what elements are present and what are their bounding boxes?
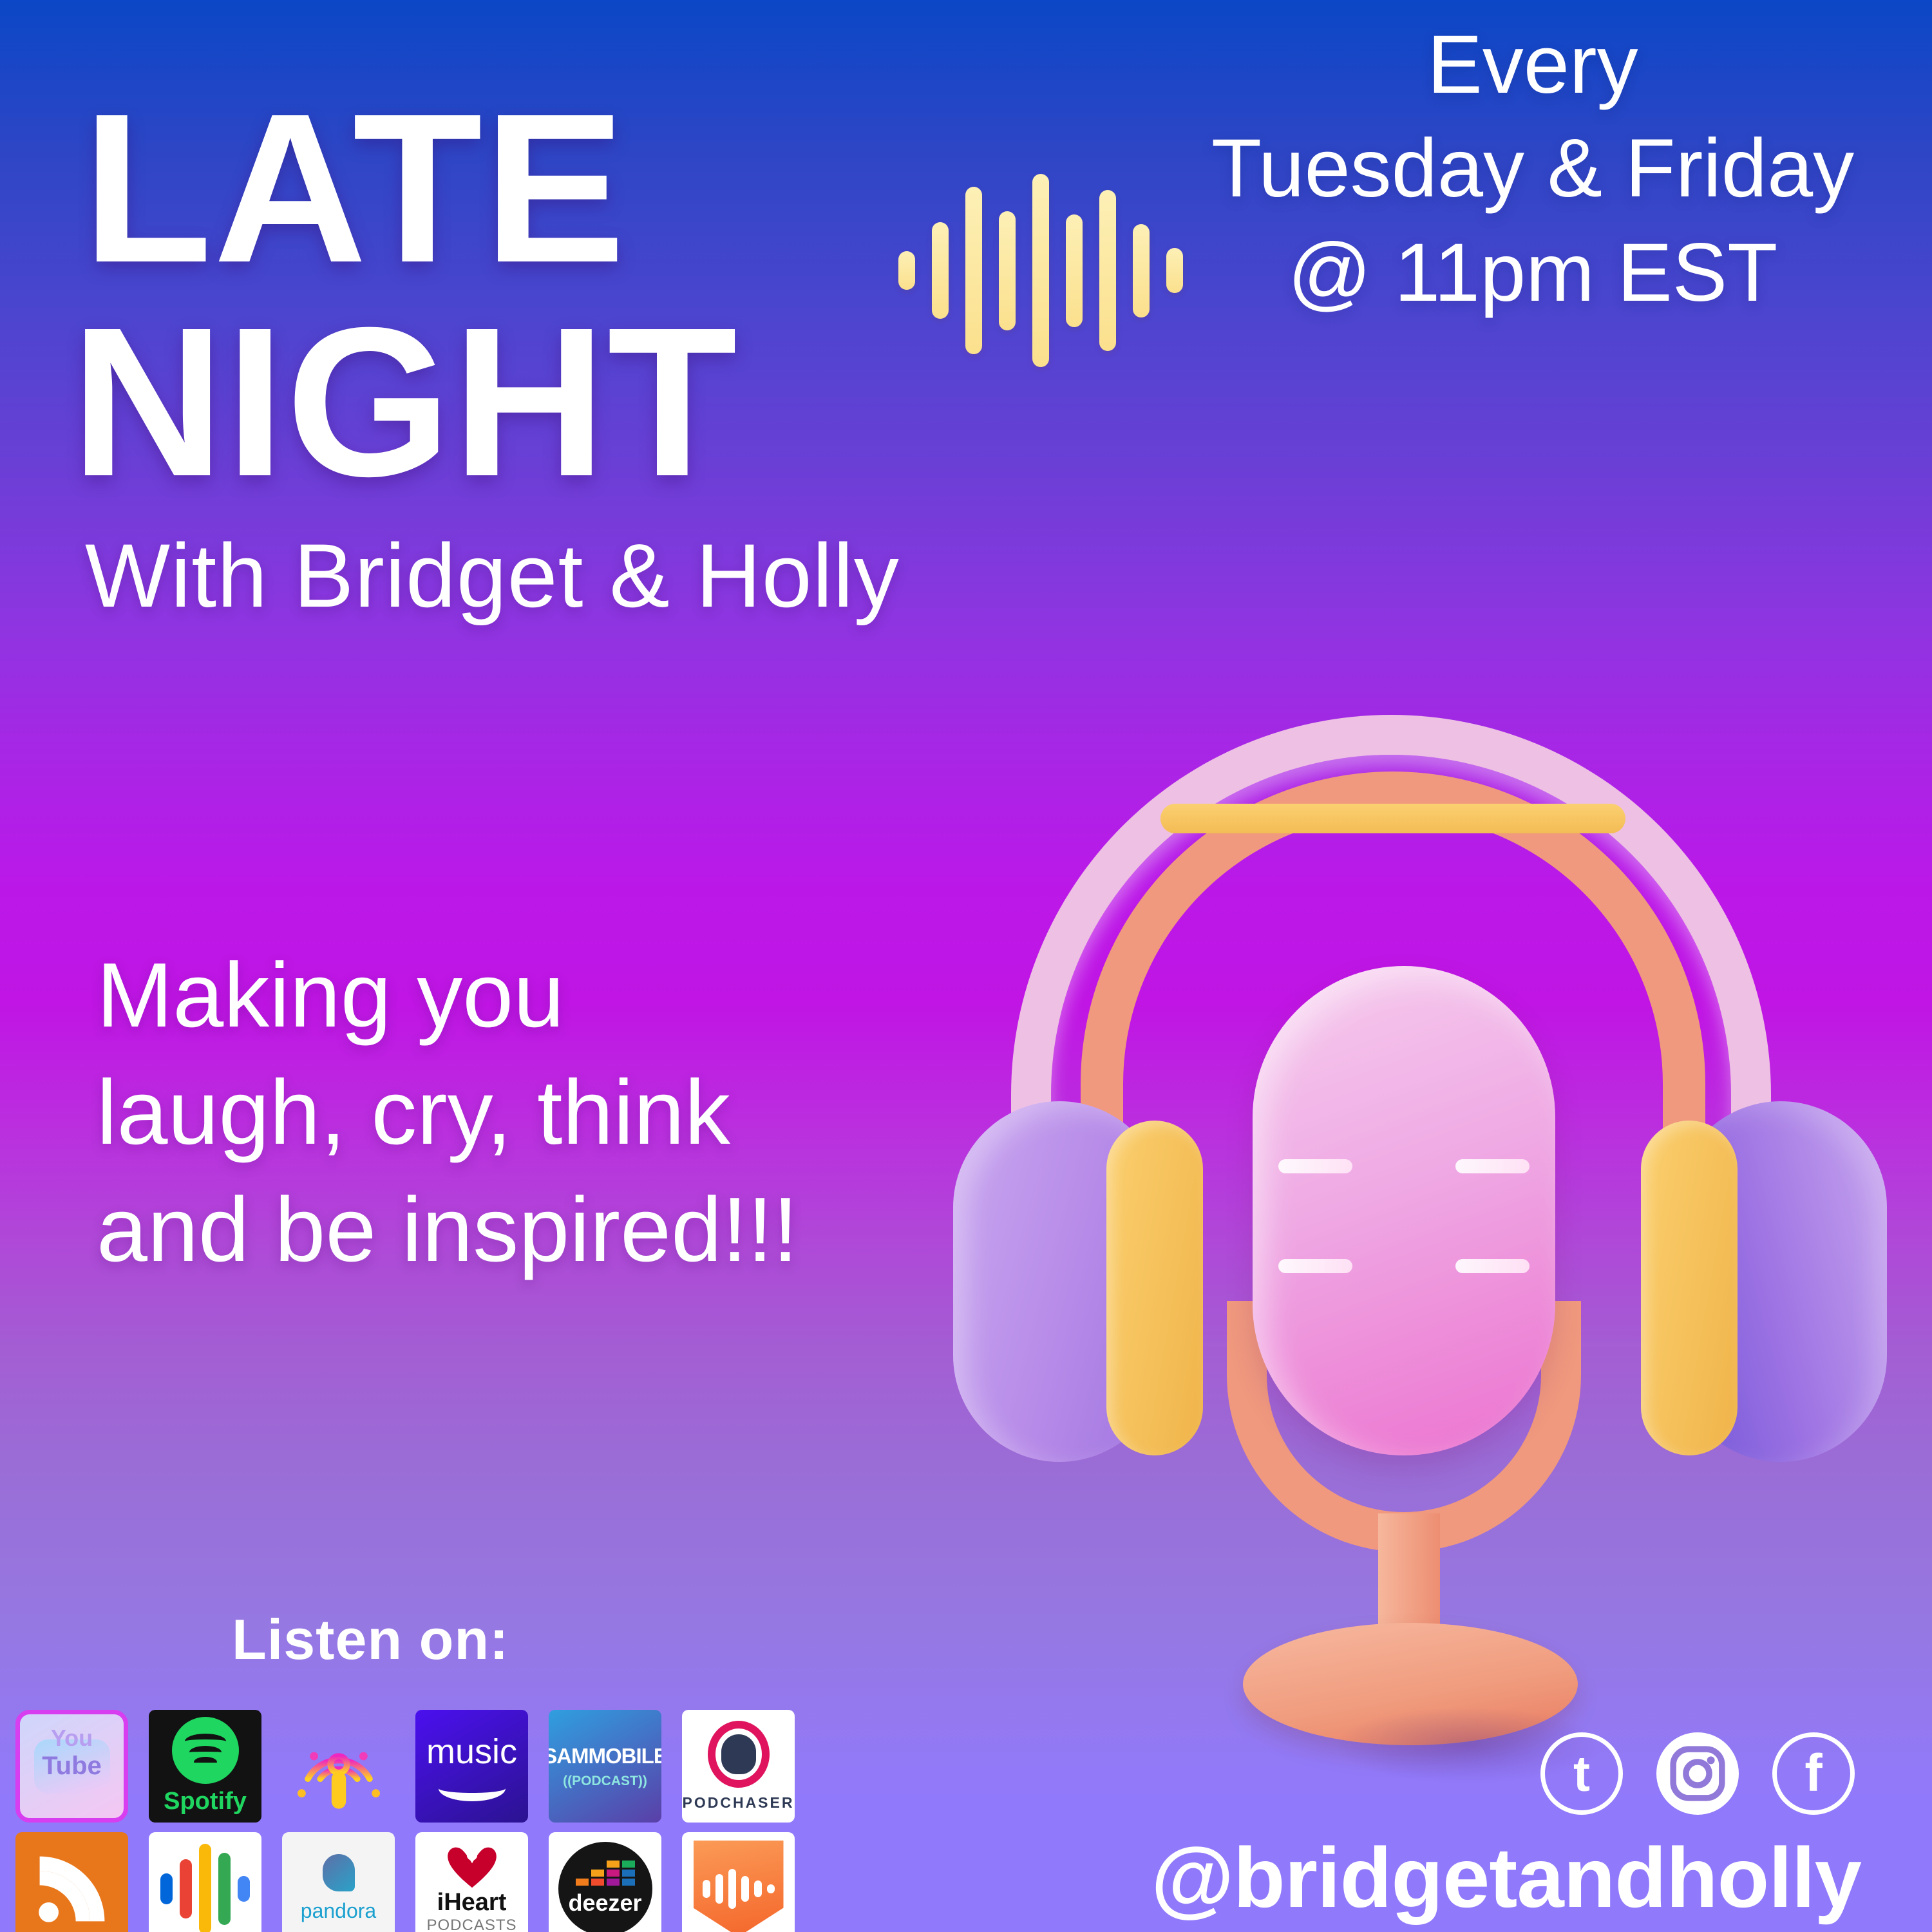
spotify-label: Spotify (164, 1788, 247, 1815)
earpad-right (1641, 1121, 1738, 1455)
gp-bar-2 (180, 1859, 192, 1918)
platform-badge-podcast-waves[interactable] (282, 1710, 395, 1823)
amazon-smile-icon (439, 1776, 506, 1801)
schedule-block: Every Tuesday & Friday @ 11pm EST (1211, 13, 1855, 325)
gp-bar-3 (199, 1844, 211, 1932)
platform-badge-deezer[interactable]: deezer (549, 1832, 661, 1932)
sparkle-icon-mid-small-top (792, 1417, 853, 1484)
gp-bar-1 (160, 1873, 173, 1904)
sammobile-sublabel: ((PODCAST)) (563, 1774, 647, 1789)
sammobile-label: SAMMOBILE (549, 1744, 661, 1768)
tagline-line-2: laugh, cry, think (97, 1054, 934, 1171)
platform-badge-row-2: pandora iHeart PODCASTS deezer (15, 1832, 795, 1932)
podchaser-label: PODCHASER (683, 1794, 795, 1812)
podcast-promo-poster: LATE NIGHT With Bridget & Holly Every Tu… (0, 0, 1932, 1932)
rss-feed-icon (27, 1844, 117, 1932)
sparkle-icon-mid-large (808, 1465, 937, 1610)
amazon-music-label: music (426, 1732, 517, 1772)
facebook-icon[interactable]: f (1772, 1732, 1855, 1815)
platform-badge-podchaser[interactable]: PODCHASER (682, 1710, 795, 1823)
podcast-waves-icon (287, 1715, 390, 1818)
social-icons-row: t f (1540, 1732, 1855, 1815)
tumblr-icon[interactable]: t (1540, 1732, 1623, 1815)
platform-badge-iheart[interactable]: iHeart PODCASTS (415, 1832, 528, 1932)
platform-badge-podcast-addict[interactable] (682, 1832, 795, 1932)
facebook-glyph: f (1804, 1747, 1822, 1800)
page-subtitle: With Bridget & Holly (85, 524, 972, 628)
iheart-label: iHeart (437, 1889, 507, 1917)
microphone-headphones-icon (934, 676, 1913, 1771)
youtube-top-text: You (20, 1725, 124, 1752)
title-block: LATE NIGHT With Bridget & Holly (71, 90, 972, 628)
deezer-icon: deezer (558, 1842, 652, 1932)
spotify-icon (172, 1717, 239, 1784)
instagram-icon[interactable] (1656, 1732, 1739, 1815)
youtube-bottom-text: Tube (42, 1752, 102, 1781)
pandora-label: pandora (301, 1899, 376, 1923)
platform-badge-rss[interactable] (15, 1832, 128, 1932)
platform-badge-youtube[interactable]: You Tube (15, 1710, 128, 1823)
gp-bar-5 (238, 1876, 250, 1902)
platform-badge-google-podcasts[interactable] (149, 1832, 261, 1932)
schedule-line-3: @ 11pm EST (1211, 221, 1855, 325)
platform-badge-pandora[interactable]: pandora (282, 1832, 395, 1932)
earpad-left (1106, 1121, 1203, 1455)
listen-on-label: Listen on: (232, 1607, 509, 1672)
iheart-icon (442, 1842, 502, 1889)
sparkle-icon-small-top (1797, 470, 1880, 563)
tagline-block: Making you laugh, cry, think and be insp… (97, 937, 934, 1288)
tagline-line-3: and be inspired!!! (97, 1171, 934, 1289)
platform-badge-amazon-music[interactable]: music (415, 1710, 528, 1823)
podcast-addict-icon (694, 1841, 784, 1932)
schedule-line-1: Every (1211, 13, 1855, 117)
pandora-icon (323, 1854, 355, 1891)
tumblr-glyph: t (1573, 1748, 1590, 1799)
platform-badge-sammobile[interactable]: SAMMOBILE ((PODCAST)) (549, 1710, 661, 1823)
gp-bar-4 (218, 1853, 231, 1925)
page-title-line-2: NIGHT (71, 304, 972, 500)
tagline-line-1: Making you (97, 937, 934, 1054)
deezer-label: deezer (568, 1889, 641, 1917)
sound-wave-icon (898, 184, 1183, 357)
mic-capsule (1253, 966, 1555, 1455)
iheart-sublabel: PODCASTS (426, 1917, 516, 1932)
podchaser-icon (708, 1721, 770, 1788)
platform-badge-row-1: You Tube Spotify (15, 1710, 795, 1823)
page-title-line-1: LATE (82, 90, 972, 286)
schedule-line-2: Tuesday & Friday (1211, 117, 1855, 220)
social-handle: @bridgetandholly (1151, 1829, 1861, 1926)
platform-badge-spotify[interactable]: Spotify (149, 1710, 261, 1823)
instagram-glyph (1670, 1746, 1725, 1801)
